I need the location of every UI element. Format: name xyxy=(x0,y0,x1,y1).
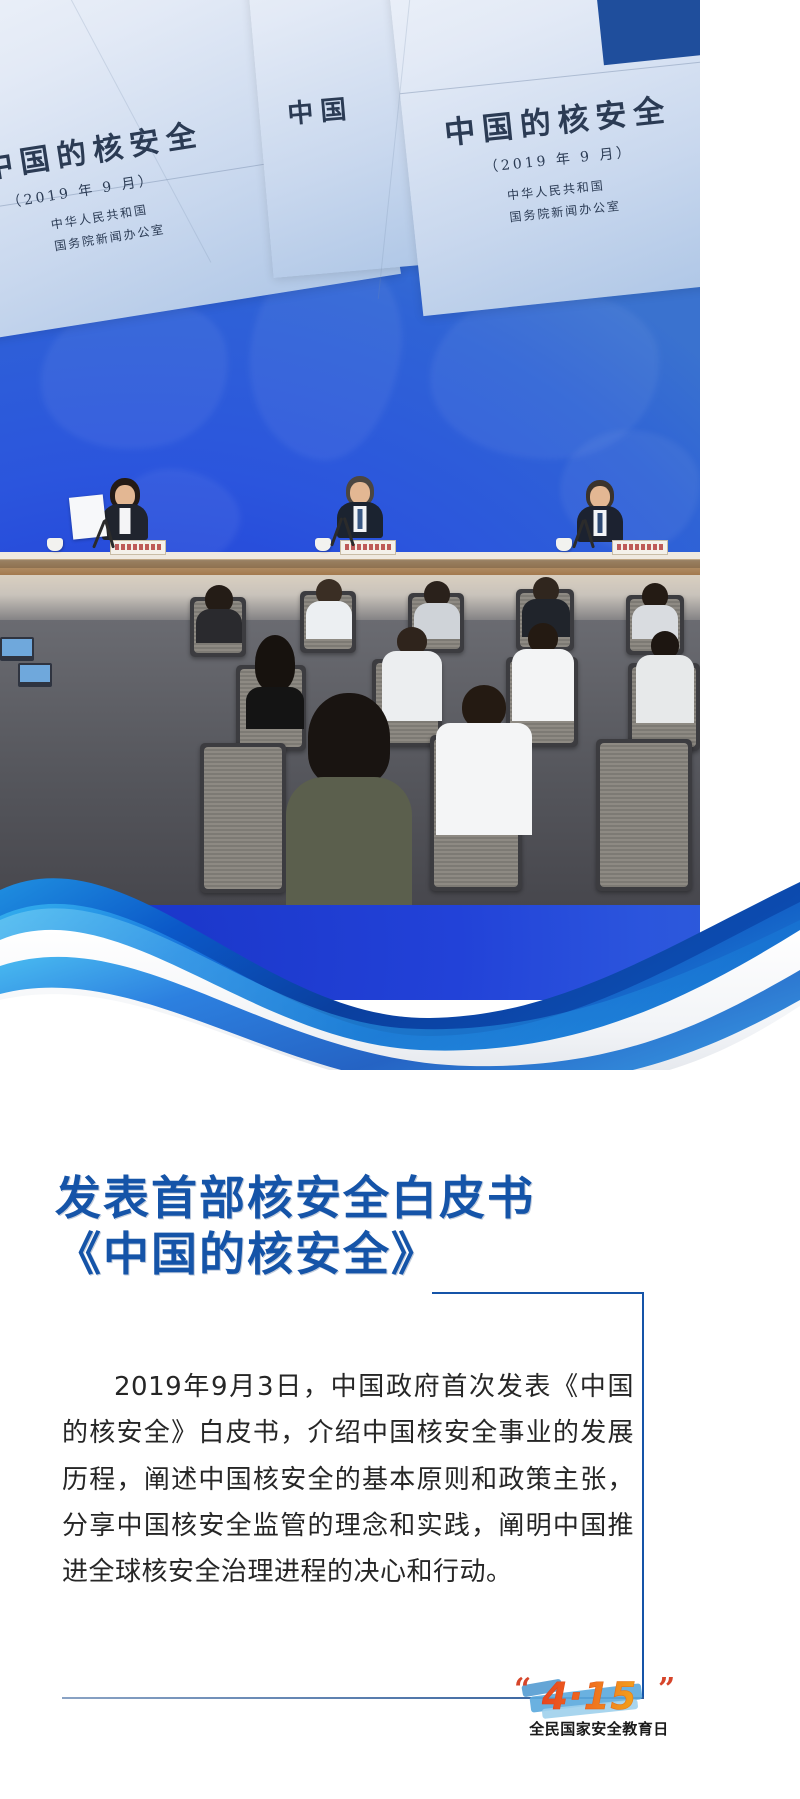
quote-open-icon: “ xyxy=(514,1675,531,1705)
whitepaper-date-right: （2019 年 9 月） xyxy=(483,141,634,177)
logo-mark: “ 4·15 ” xyxy=(508,1676,690,1724)
audience-member xyxy=(306,579,352,639)
quote-close-icon: ” xyxy=(658,1675,675,1705)
rule-right xyxy=(642,1292,644,1699)
title-line-1: 发表首部核安全白皮书 xyxy=(55,1171,535,1225)
logo-number: 4·15 xyxy=(542,1678,637,1715)
teacup-left xyxy=(47,538,63,551)
blue-panel-accent xyxy=(597,0,700,65)
whitepaper-title-left: 中国的核安全 xyxy=(0,109,206,187)
national-security-education-day-logo: “ 4·15 ” 全民国家安全教育日 xyxy=(508,1676,690,1752)
held-whitepaper xyxy=(69,494,107,539)
teacup-right xyxy=(556,538,572,551)
laptop xyxy=(18,663,52,687)
title-line-2: 《中国的核安全》 xyxy=(55,1226,535,1282)
nameplate-right xyxy=(612,540,668,555)
poster-page: 中国的核安全 （2019 年 9 月） 中华人民共和国 国务院新闻办公室 中国 … xyxy=(0,0,800,1799)
audience-member xyxy=(636,631,694,725)
page-title: 发表首部核安全白皮书 《中国的核安全》 xyxy=(55,1170,535,1282)
rule-top xyxy=(432,1292,644,1294)
speaker-center xyxy=(338,476,382,536)
nameplate-center xyxy=(340,540,396,555)
whitepaper-title-center: 中国 xyxy=(286,88,355,131)
body-paragraph: 2019年9月3日，中国政府首次发表《中国的核安全》白皮书，介绍中国核安全事业的… xyxy=(62,1364,634,1595)
logo-subtitle: 全民国家安全教育日 xyxy=(508,1718,690,1739)
blue-wave-graphic xyxy=(0,770,800,1070)
speaker-right xyxy=(578,480,622,540)
nameplate-left xyxy=(110,540,166,555)
desk-shadow xyxy=(0,560,700,568)
audience-member xyxy=(196,585,242,641)
laptop xyxy=(0,637,34,661)
teacup-center xyxy=(315,538,331,551)
whitepaper-title-right: 中国的核安全 xyxy=(442,84,673,153)
